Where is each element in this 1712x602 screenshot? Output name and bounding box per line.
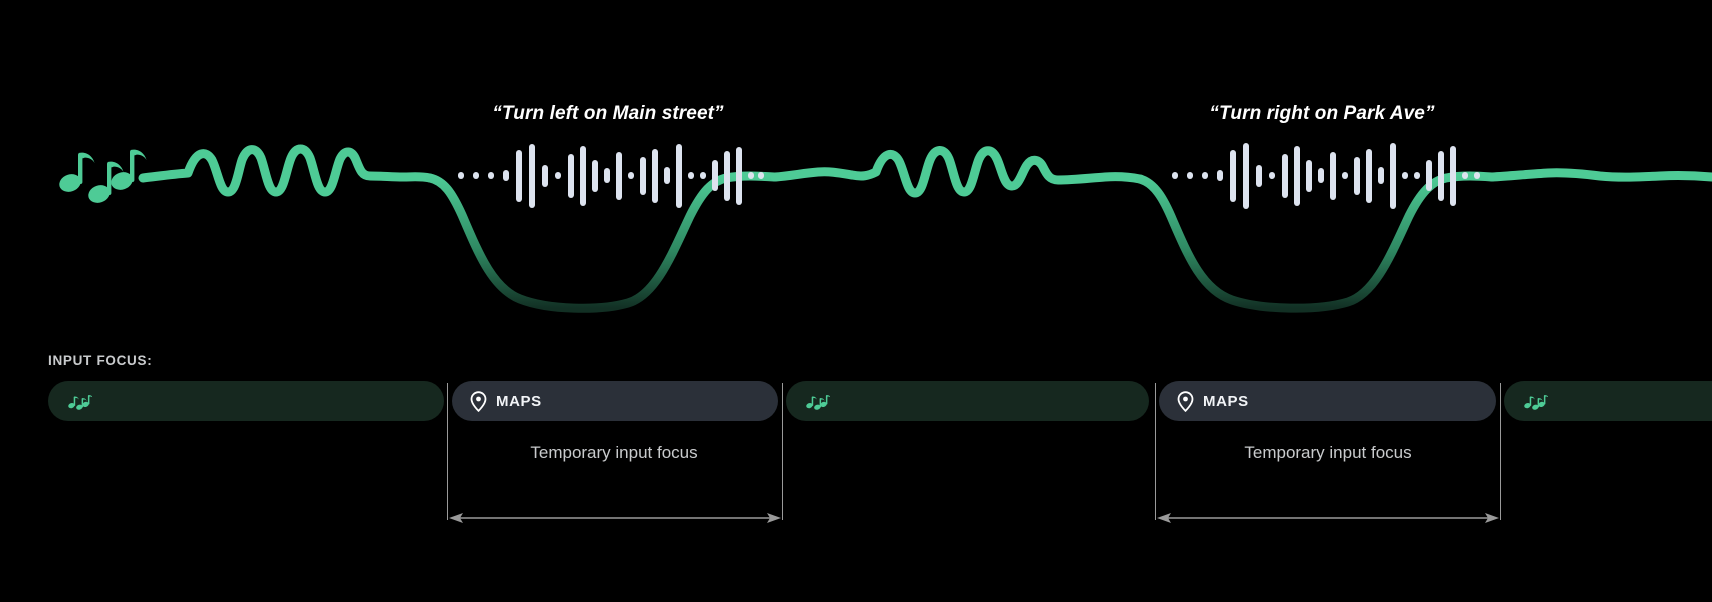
focus-segment-music-2[interactable] <box>786 381 1149 421</box>
input-focus-label: INPUT FOCUS: <box>48 353 152 368</box>
audio-focus-diagram: “Turn left on Main street” “Turn right o… <box>0 0 1712 602</box>
focus-segment-music-1[interactable] <box>48 381 444 421</box>
music-notes-icon <box>806 392 830 410</box>
focus-window-1-divider-left <box>447 383 448 520</box>
focus-segment-label: MAPS <box>1203 393 1249 410</box>
focus-window-1-divider-right <box>782 383 783 520</box>
music-notes-icon <box>57 150 147 206</box>
focus-segment-maps-2[interactable]: MAPS <box>1159 381 1496 421</box>
focus-window-2-divider-left <box>1155 383 1156 520</box>
music-wave-active-2 <box>775 150 1140 193</box>
focus-segment-label: MAPS <box>496 393 542 410</box>
focus-window-1-arrow <box>447 508 783 528</box>
music-notes-icon <box>68 392 92 410</box>
focus-segment-maps-1[interactable]: MAPS <box>452 381 778 421</box>
focus-track: MAPS <box>0 381 1712 421</box>
speech-waveform-2 <box>1172 143 1480 209</box>
waveform-area: “Turn left on Main street” “Turn right o… <box>0 0 1712 340</box>
music-wave-ducked-1 <box>430 176 775 308</box>
focus-window-2-arrow <box>1155 508 1501 528</box>
map-pin-icon <box>1177 391 1194 412</box>
speech-caption-2: “Turn right on Park Ave” <box>1209 103 1434 125</box>
music-wave-active-1 <box>143 149 430 192</box>
music-wave-active-3 <box>1492 173 1712 177</box>
speech-caption-1: “Turn left on Main street” <box>492 103 723 125</box>
focus-window-2-annotation: Temporary input focus <box>1244 443 1411 463</box>
music-notes-icon <box>1524 392 1548 410</box>
map-pin-icon <box>470 391 487 412</box>
focus-window-1-annotation: Temporary input focus <box>530 443 697 463</box>
focus-segment-music-3[interactable] <box>1504 381 1712 421</box>
focus-window-2-divider-right <box>1500 383 1501 520</box>
waveform-svg <box>0 0 1712 340</box>
